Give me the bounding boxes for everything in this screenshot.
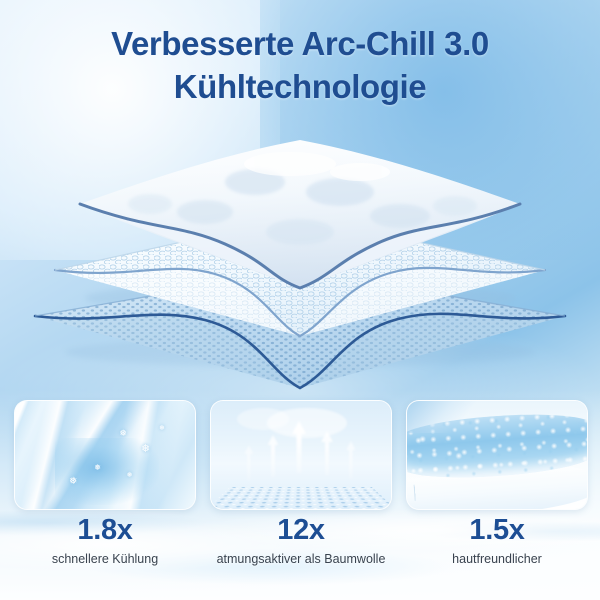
headline-line-2: Kühltechnologie bbox=[0, 65, 600, 108]
snowflake-icon: ❅ bbox=[94, 464, 101, 472]
feature-card-skin-friendly[interactable] bbox=[406, 400, 588, 510]
stat-value: 1.8x bbox=[14, 515, 196, 546]
snowflake-icon: ❅ bbox=[119, 429, 127, 438]
cooling-gel-beads-image bbox=[407, 401, 587, 509]
stat-value: 1.5x bbox=[406, 515, 588, 546]
snowflake-icon: ❅ bbox=[69, 477, 77, 487]
page-title: Verbesserte Arc-Chill 3.0 Kühltechnologi… bbox=[0, 22, 600, 108]
fabric-layers-illustration bbox=[0, 120, 600, 400]
snowflake-icon: ❅ bbox=[159, 425, 165, 432]
feature-card-breathability[interactable] bbox=[210, 400, 392, 510]
feature-card-cooling[interactable]: ❅ ❅ ❅ ❅ ❅ ❅ bbox=[14, 400, 196, 510]
headline-line-1: Verbesserte Arc-Chill 3.0 bbox=[0, 22, 600, 65]
stat-label: schnellere Kühlung bbox=[14, 552, 196, 568]
product-feature-poster: Verbesserte Arc-Chill 3.0 Kühltechnologi… bbox=[0, 0, 600, 600]
stat-skin-friendly: 1.5x hautfreundlicher bbox=[406, 515, 588, 568]
stat-label: hautfreundlicher bbox=[406, 552, 588, 568]
stat-breathability: 12x atmungsaktiver als Baumwolle bbox=[210, 515, 392, 568]
stat-label: atmungsaktiver als Baumwolle bbox=[210, 552, 392, 568]
stat-value: 12x bbox=[210, 515, 392, 546]
breathable-mesh-airflow-image bbox=[211, 401, 391, 509]
feature-stats-list: 1.8x schnellere Kühlung 12x atmungsaktiv… bbox=[14, 515, 588, 568]
stat-cooling: 1.8x schnellere Kühlung bbox=[14, 515, 196, 568]
snowflake-icon: ❅ bbox=[127, 472, 133, 479]
feature-card-list: ❅ ❅ ❅ ❅ ❅ ❅ bbox=[14, 400, 588, 510]
airflow-arrows-icon bbox=[211, 401, 392, 509]
snowflake-icon: ❅ bbox=[141, 444, 150, 455]
frosted-ice-fabric-image: ❅ ❅ ❅ ❅ ❅ ❅ bbox=[15, 401, 195, 509]
